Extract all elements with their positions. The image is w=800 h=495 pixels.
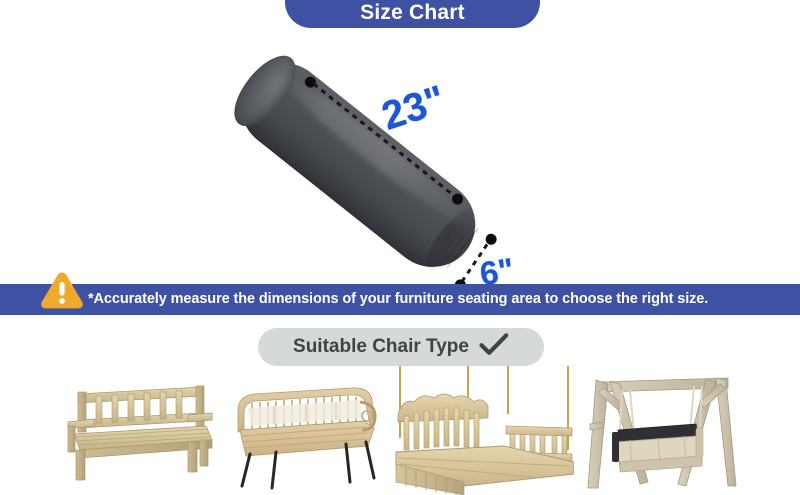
warning-triangle-icon — [40, 270, 84, 310]
size-chart-infographic: Size Chart 23" 6" — [0, 0, 800, 495]
bolster-pillow-image — [226, 50, 490, 272]
suitable-chair-type-pill: Suitable Chair Type — [258, 328, 544, 366]
warning-message: *Accurately measure the dimensions of yo… — [88, 286, 708, 313]
check-icon — [479, 332, 509, 363]
furniture-item-a-frame-porch-swing — [578, 366, 748, 495]
size-chart-title-banner: Size Chart — [285, 0, 540, 28]
furniture-item-rattan-outdoor-sofa — [228, 366, 386, 495]
page-title: Size Chart — [360, 1, 465, 25]
suitable-furniture-gallery — [0, 366, 800, 495]
suitable-chair-type-label: Suitable Chair Type — [293, 336, 469, 358]
furniture-item-wooden-garden-bench — [60, 366, 220, 495]
pillow-body — [223, 45, 493, 284]
furniture-item-wooden-porch-swing-bed — [392, 366, 574, 495]
pillow-highlight — [276, 68, 474, 233]
product-stage: 23" 6" — [0, 28, 800, 284]
